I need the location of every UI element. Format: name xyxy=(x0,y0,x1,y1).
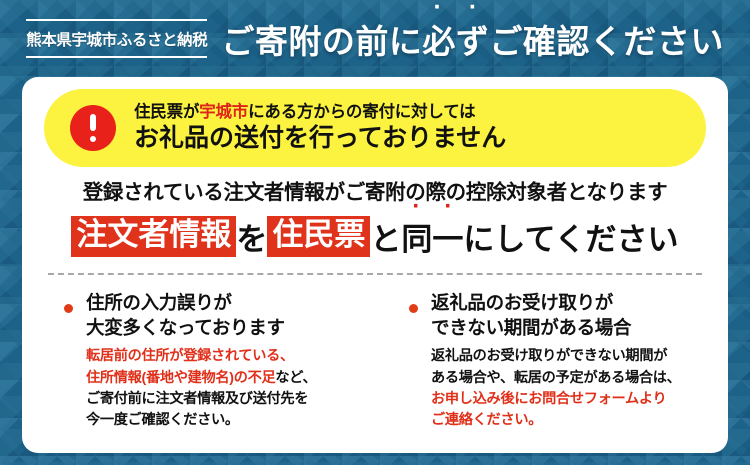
bullet-dot-icon xyxy=(64,304,73,313)
bullet-column-address: 住所の入力誤りが 大変多くなっております 転居前の住所が登録されている、 住所情… xyxy=(22,290,383,432)
headline: ご寄附の前に必ずご確認ください xyxy=(221,15,724,63)
notice-line1-b: にある方からの寄付に対しては xyxy=(248,103,475,121)
bullet-title-line-2: 大変多くなっております xyxy=(86,315,383,340)
bullet-title-line-1: 住所の入力誤りが xyxy=(86,290,383,315)
bullet-sub-line-2: 住所情報(番地や建物名)の不足など、 xyxy=(86,368,383,389)
bullet-dot-icon xyxy=(409,304,418,313)
municipality-kicker: 熊本県宇城市ふるさと納税 xyxy=(26,19,207,58)
bullet-columns: 住所の入力誤りが 大変多くなっております 転居前の住所が登録されている、 住所情… xyxy=(22,290,728,432)
dashed-divider xyxy=(48,273,702,275)
notice-text: 住民票が宇城市にある方からの寄付に対しては お礼品の送付を行っておりません xyxy=(134,103,506,154)
notice-line-1: 住民票が宇城市にある方からの寄付に対しては xyxy=(134,103,506,122)
bullet-sub-line-4: ご連絡ください。 xyxy=(431,410,728,431)
bullet-sub-line-2-black: など、 xyxy=(275,370,316,386)
bullet-column-delivery: 返礼品のお受け取りが できない期間がある場合 返礼品のお受け取りができない期間が… xyxy=(383,290,728,432)
bullet-sub-line-2-red: 住所情報(番地や建物名)の不足 xyxy=(86,370,275,386)
bullet-body: 返礼品のお受け取りが できない期間がある場合 返礼品のお受け取りができない期間が… xyxy=(431,290,728,432)
bullet-sub-line-1: 返礼品のお受け取りができない期間が xyxy=(431,346,728,367)
middle-connector: を xyxy=(236,214,267,259)
headline-emphasis: 必ず xyxy=(422,15,489,63)
notice-line-2: お礼品の送付を行っておりません xyxy=(134,124,506,154)
bullet-title-line-2: できない期間がある場合 xyxy=(431,315,728,340)
bullet-sub-line-1: 転居前の住所が登録されている、 xyxy=(86,346,383,367)
notice-banner: 住民票が宇城市にある方からの寄付に対しては お礼品の送付を行っておりません xyxy=(44,89,706,167)
headline-before: ご寄附の前に xyxy=(221,23,422,60)
headline-after: ご確認ください xyxy=(489,23,724,60)
bullet-title-line-1: 返礼品のお受け取りが xyxy=(431,290,728,315)
exclamation-icon xyxy=(70,105,116,151)
bullet-title: 住所の入力誤りが 大変多くなっております xyxy=(86,290,383,340)
middle-after-a: と xyxy=(370,214,401,259)
bullet-title: 返礼品のお受け取りが できない期間がある場合 xyxy=(431,290,728,340)
middle-line-2: 注文者情報を住民票と同一にしてください xyxy=(22,214,728,259)
highlight-residence-card: 住民票 xyxy=(267,216,370,257)
banner-header: 熊本県宇城市ふるさと納税 ご寄附の前に必ずご確認ください xyxy=(0,0,750,77)
highlight-orderer-info: 注文者情報 xyxy=(71,216,236,257)
bullet-subtext: 返礼品のお受け取りができない期間が ある場合や、転居の予定がある場合は、 お申し… xyxy=(431,346,728,431)
middle-after-b: にしてください xyxy=(463,214,678,259)
middle-line-1: 登録されている注文者情報がご寄附の際の控除対象者となります xyxy=(22,175,728,205)
notice-line1-a: 住民票が xyxy=(134,103,199,121)
notice-city-highlight: 宇城市 xyxy=(199,103,248,121)
middle-block: 登録されている注文者情報がご寄附の際の控除対象者となります 注文者情報を住民票と… xyxy=(22,175,728,259)
content-card: 住民票が宇城市にある方からの寄付に対しては お礼品の送付を行っておりません 登録… xyxy=(22,77,728,453)
middle-emphasis-same: 同一 xyxy=(401,214,463,259)
bullet-sub-line-3: お申し込み後にお問合せフォームより xyxy=(431,389,728,410)
bullet-sub-line-4: 今一度ご確認ください。 xyxy=(86,410,383,431)
bullet-body: 住所の入力誤りが 大変多くなっております 転居前の住所が登録されている、 住所情… xyxy=(86,290,383,432)
bullet-subtext: 転居前の住所が登録されている、 住所情報(番地や建物名)の不足など、 ご寄付前に… xyxy=(86,346,383,431)
bullet-sub-line-3: ご寄付前に注文者情報及び送付先を xyxy=(86,389,383,410)
promo-banner: 熊本県宇城市ふるさと納税 ご寄附の前に必ずご確認ください 住民票が宇城市にある方… xyxy=(0,0,750,465)
bullet-sub-line-2: ある場合や、転居の予定がある場合は、 xyxy=(431,368,728,389)
